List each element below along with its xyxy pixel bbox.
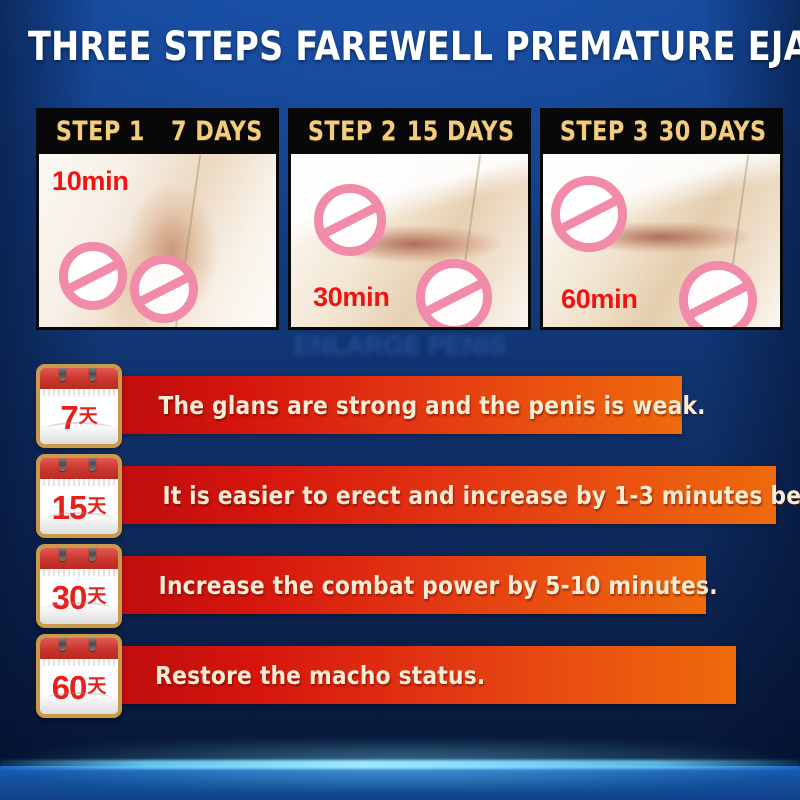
calendar-ring-icon (89, 545, 96, 561)
watermark-text: ENLARGE PENIS (200, 330, 600, 356)
calendar-top-band (40, 368, 118, 389)
prohibition-icon (679, 261, 757, 330)
step-panel-2-header: STEP 2 15 DAYS (288, 108, 531, 154)
calendar-page-curl (46, 422, 112, 435)
calendar-ring-icon (59, 635, 66, 651)
step-panel-3: STEP 3 30 DAYS 60min (540, 108, 783, 330)
calendar-ring-icon (89, 365, 96, 381)
result-banner: Increase the combat power by 5-10 minute… (122, 556, 706, 614)
prohibition-icon (130, 255, 198, 323)
calendar-ring-icon (59, 455, 66, 471)
calendar-face: 30 天 (40, 576, 118, 624)
result-banner: The glans are strong and the penis is we… (122, 376, 682, 434)
result-row: It is easier to erect and increase by 1-… (36, 454, 776, 544)
prohibition-icon (551, 176, 627, 252)
step-panel-1-body: 10min (36, 154, 279, 330)
calendar-ring-icon (89, 635, 96, 651)
step-panel-2-step-label: STEP 2 (308, 116, 397, 147)
step-panel-3-days-label: 30 DAYS (658, 116, 766, 147)
result-text: The glans are strong and the penis is we… (158, 391, 705, 420)
calendar-ring-icon (59, 545, 66, 561)
result-text: Restore the macho status. (155, 661, 485, 690)
calendar-top-band (40, 548, 118, 569)
calendar-face: 15 天 (40, 486, 118, 534)
result-banner: Restore the macho status. (122, 646, 736, 704)
step-2-duration-label: 30min (313, 282, 390, 313)
calendar-icon: 15 天 (36, 454, 122, 538)
calendar-icon: 30 天 (36, 544, 122, 628)
step-1-duration-label: 10min (52, 166, 129, 197)
prohibition-icon (314, 184, 386, 256)
calendar-top-band (40, 458, 118, 479)
step-panel-2: STEP 2 15 DAYS 30min (288, 108, 531, 330)
prohibition-icon (416, 259, 492, 330)
bottom-glow (0, 730, 800, 800)
calendar-page-curl (46, 512, 112, 525)
step-panel-1-days-label: 7 DAYS (171, 116, 263, 147)
calendar-ring-icon (89, 455, 96, 471)
calendar-icon: 7 天 (36, 364, 122, 448)
calendar-tear-edge (40, 569, 118, 576)
step-panel-1-step-label: STEP 1 (56, 116, 145, 147)
step-panel-3-header: STEP 3 30 DAYS (540, 108, 783, 154)
calendar-tear-edge (40, 479, 118, 486)
step-panel-group: STEP 1 7 DAYS 10min STEP 2 15 DAYS 30min… (36, 108, 783, 330)
results-list: The glans are strong and the penis is we… (36, 364, 776, 724)
step-panel-2-body: 30min (288, 154, 531, 330)
result-row: Increase the combat power by 5-10 minute… (36, 544, 776, 634)
result-row: Restore the macho status. 60 天 (36, 634, 776, 724)
result-text: It is easier to erect and increase by 1-… (162, 481, 800, 510)
step-panel-2-days-label: 15 DAYS (406, 116, 514, 147)
step-3-duration-label: 60min (561, 284, 638, 315)
result-banner: It is easier to erect and increase by 1-… (122, 466, 776, 524)
result-row: The glans are strong and the penis is we… (36, 364, 776, 454)
prohibition-icon (59, 242, 127, 310)
calendar-face: 60 天 (40, 666, 118, 714)
step-panel-3-step-label: STEP 3 (560, 116, 649, 147)
calendar-face: 7 天 (40, 396, 118, 444)
result-text: Increase the combat power by 5-10 minute… (159, 571, 718, 600)
calendar-icon: 60 天 (36, 634, 122, 718)
calendar-ring-icon (59, 365, 66, 381)
calendar-page-curl (46, 692, 112, 705)
step-panel-3-body: 60min (540, 154, 783, 330)
page-title: THREE STEPS FAREWELL PREMATURE EJACULATI… (28, 24, 772, 70)
calendar-tear-edge (40, 389, 118, 396)
bottom-glow-line (0, 760, 800, 769)
calendar-page-curl (46, 602, 112, 615)
step-panel-1-header: STEP 1 7 DAYS (36, 108, 279, 154)
calendar-tear-edge (40, 659, 118, 666)
step-panel-1: STEP 1 7 DAYS 10min (36, 108, 279, 330)
calendar-top-band (40, 638, 118, 659)
